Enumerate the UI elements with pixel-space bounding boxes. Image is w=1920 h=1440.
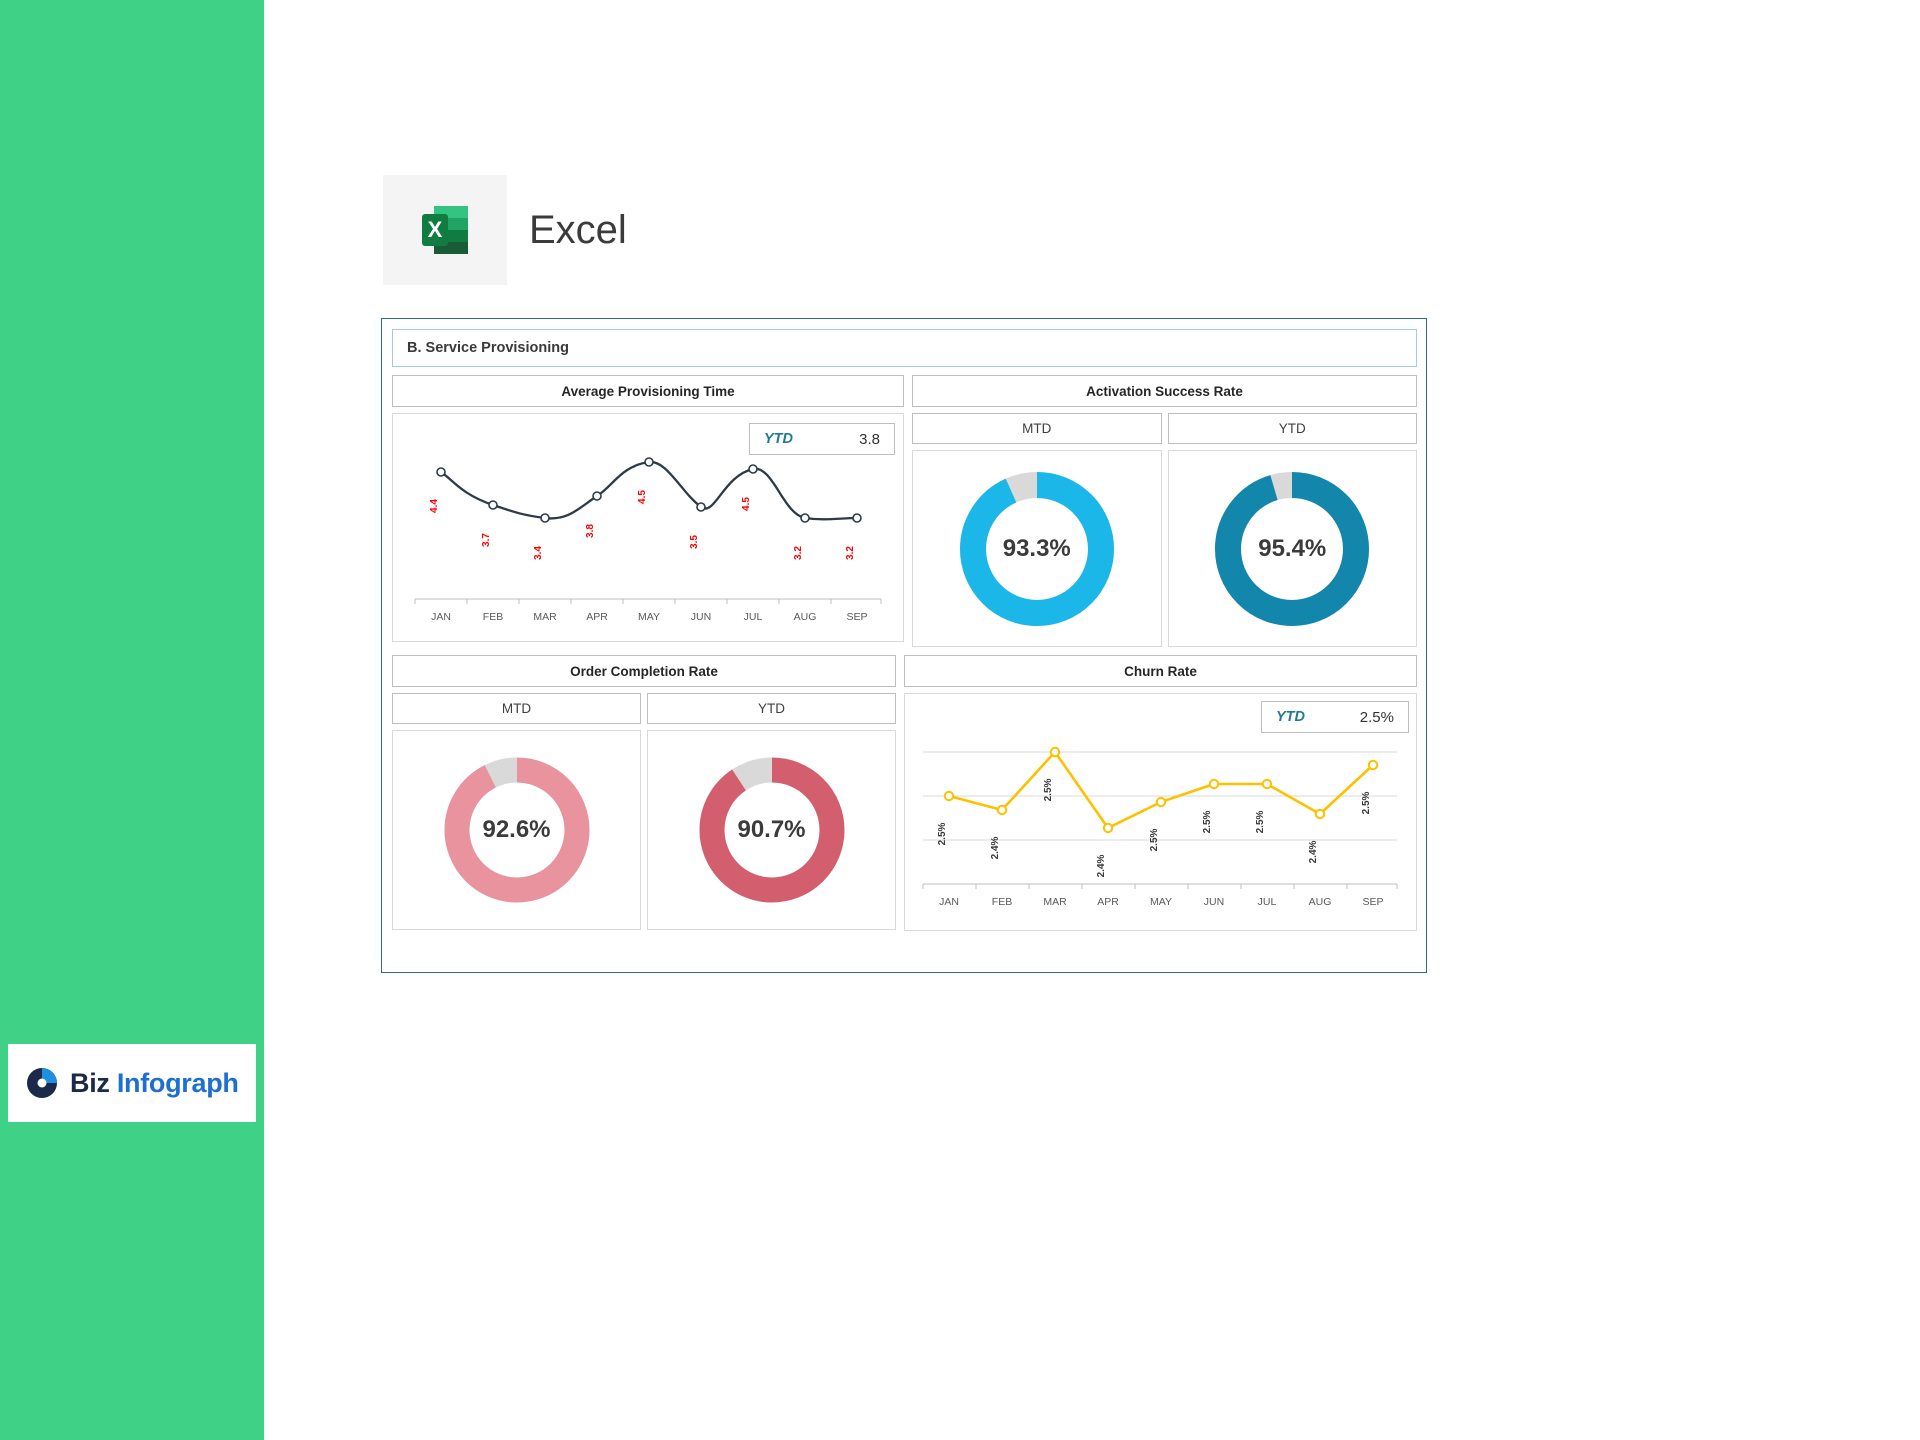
- data-label-provisioning: 3.7: [481, 533, 492, 547]
- x-tick-label: SEP: [1362, 896, 1383, 908]
- ytd-badge-value: 3.8: [859, 431, 880, 448]
- chart-average-provisioning-time: YTD 3.8: [392, 413, 904, 642]
- data-label-provisioning: 3.8: [585, 524, 596, 538]
- x-tick-label: JUL: [1258, 896, 1277, 908]
- data-label-churn: 2.5%: [937, 822, 948, 845]
- panel-title-order-completion-rate: Order Completion Rate: [392, 655, 896, 687]
- data-label-churn: 2.5%: [1149, 828, 1160, 851]
- x-tick-label: MAR: [533, 611, 557, 623]
- tabs-activation: MTD YTD: [912, 413, 1417, 444]
- data-label-churn: 2.5%: [1043, 778, 1054, 801]
- data-label-provisioning: 3.2: [845, 546, 856, 560]
- data-label-provisioning: 4.5: [637, 490, 648, 504]
- data-label-churn: 2.4%: [990, 836, 1001, 859]
- dashboard-row-1: Average Provisioning Time YTD 3.8: [392, 375, 1417, 647]
- data-label-churn: 2.4%: [1308, 840, 1319, 863]
- donut-value-activation-mtd: 93.3%: [953, 465, 1121, 633]
- data-label-churn: 2.5%: [1361, 791, 1372, 814]
- logo-text-biz: Biz: [70, 1068, 110, 1098]
- ytd-badge-key: YTD: [1276, 709, 1305, 725]
- x-tick-label: JUN: [691, 611, 711, 623]
- dashboard-frame: B. Service Provisioning Average Provisio…: [381, 318, 1427, 973]
- x-tick-label: MAY: [1150, 896, 1172, 908]
- tabs-order-completion: MTD YTD: [392, 693, 896, 724]
- panel-order-completion-rate: Order Completion Rate MTD YTD 92.6%: [392, 655, 896, 931]
- x-tick-label: SEP: [846, 611, 867, 623]
- ytd-badge-value: 2.5%: [1360, 709, 1394, 726]
- x-tick-label: AUG: [1309, 896, 1332, 908]
- logo-text-infograph: Infograph: [117, 1068, 239, 1098]
- panel-title-churn-rate: Churn Rate: [904, 655, 1417, 687]
- donut-value-activation-ytd: 95.4%: [1208, 465, 1376, 633]
- app-title: Excel: [529, 208, 627, 253]
- panel-churn-rate: Churn Rate YTD 2.5%: [904, 655, 1417, 931]
- svg-text:X: X: [428, 217, 443, 242]
- data-label-provisioning: 3.5: [689, 535, 700, 549]
- x-tick-label: JAN: [431, 611, 451, 623]
- x-tick-label: APR: [1097, 896, 1119, 908]
- x-tick-label: AUG: [794, 611, 817, 623]
- donut-order-completion-mtd: 92.6%: [392, 730, 641, 930]
- donut-value-order-completion-mtd: 92.6%: [438, 751, 596, 909]
- left-accent-rail: [0, 0, 264, 1440]
- x-tick-label: APR: [586, 611, 608, 623]
- pie-chart-icon: [24, 1065, 60, 1101]
- x-tick-label: JAN: [939, 896, 959, 908]
- panel-title-activation-success-rate: Activation Success Rate: [912, 375, 1417, 407]
- brand-logo: Biz Infograph: [8, 1044, 256, 1122]
- x-tick-label: FEB: [483, 611, 503, 623]
- x-tick-label: FEB: [992, 896, 1012, 908]
- donut-activation-mtd: 93.3%: [912, 450, 1162, 647]
- x-tick-label: JUN: [1204, 896, 1224, 908]
- panel-average-provisioning-time: Average Provisioning Time YTD 3.8: [392, 375, 904, 647]
- data-label-provisioning: 4.5: [741, 497, 752, 511]
- data-label-provisioning: 4.4: [429, 499, 440, 513]
- ytd-badge-provisioning: YTD 3.8: [749, 423, 895, 455]
- data-label-churn: 2.5%: [1202, 810, 1213, 833]
- tab-activation-mtd[interactable]: MTD: [912, 413, 1162, 444]
- section-title: B. Service Provisioning: [392, 329, 1417, 367]
- x-tick-label: MAY: [638, 611, 660, 623]
- dashboard-row-2: Order Completion Rate MTD YTD 92.6%: [392, 655, 1417, 931]
- app-header: X Excel: [383, 175, 627, 285]
- data-label-churn: 2.5%: [1255, 810, 1266, 833]
- panel-title-average-provisioning-time: Average Provisioning Time: [392, 375, 904, 407]
- panel-activation-success-rate: Activation Success Rate MTD YTD 93.3%: [912, 375, 1417, 647]
- chart-churn-rate: YTD 2.5%: [904, 693, 1417, 931]
- tab-activation-ytd[interactable]: YTD: [1168, 413, 1418, 444]
- ytd-badge-churn: YTD 2.5%: [1261, 701, 1409, 733]
- data-label-provisioning: 3.4: [533, 546, 544, 560]
- x-tick-label: MAR: [1043, 896, 1067, 908]
- ytd-badge-key: YTD: [764, 431, 793, 447]
- donut-order-completion-ytd: 90.7%: [647, 730, 896, 930]
- donut-activation-ytd: 95.4%: [1168, 450, 1418, 647]
- donut-value-order-completion-ytd: 90.7%: [693, 751, 851, 909]
- tab-order-completion-mtd[interactable]: MTD: [392, 693, 641, 724]
- tab-order-completion-ytd[interactable]: YTD: [647, 693, 896, 724]
- x-tick-label: JUL: [744, 611, 763, 623]
- data-label-churn: 2.4%: [1096, 854, 1107, 877]
- data-label-provisioning: 3.2: [793, 546, 804, 560]
- excel-icon: X: [383, 175, 507, 285]
